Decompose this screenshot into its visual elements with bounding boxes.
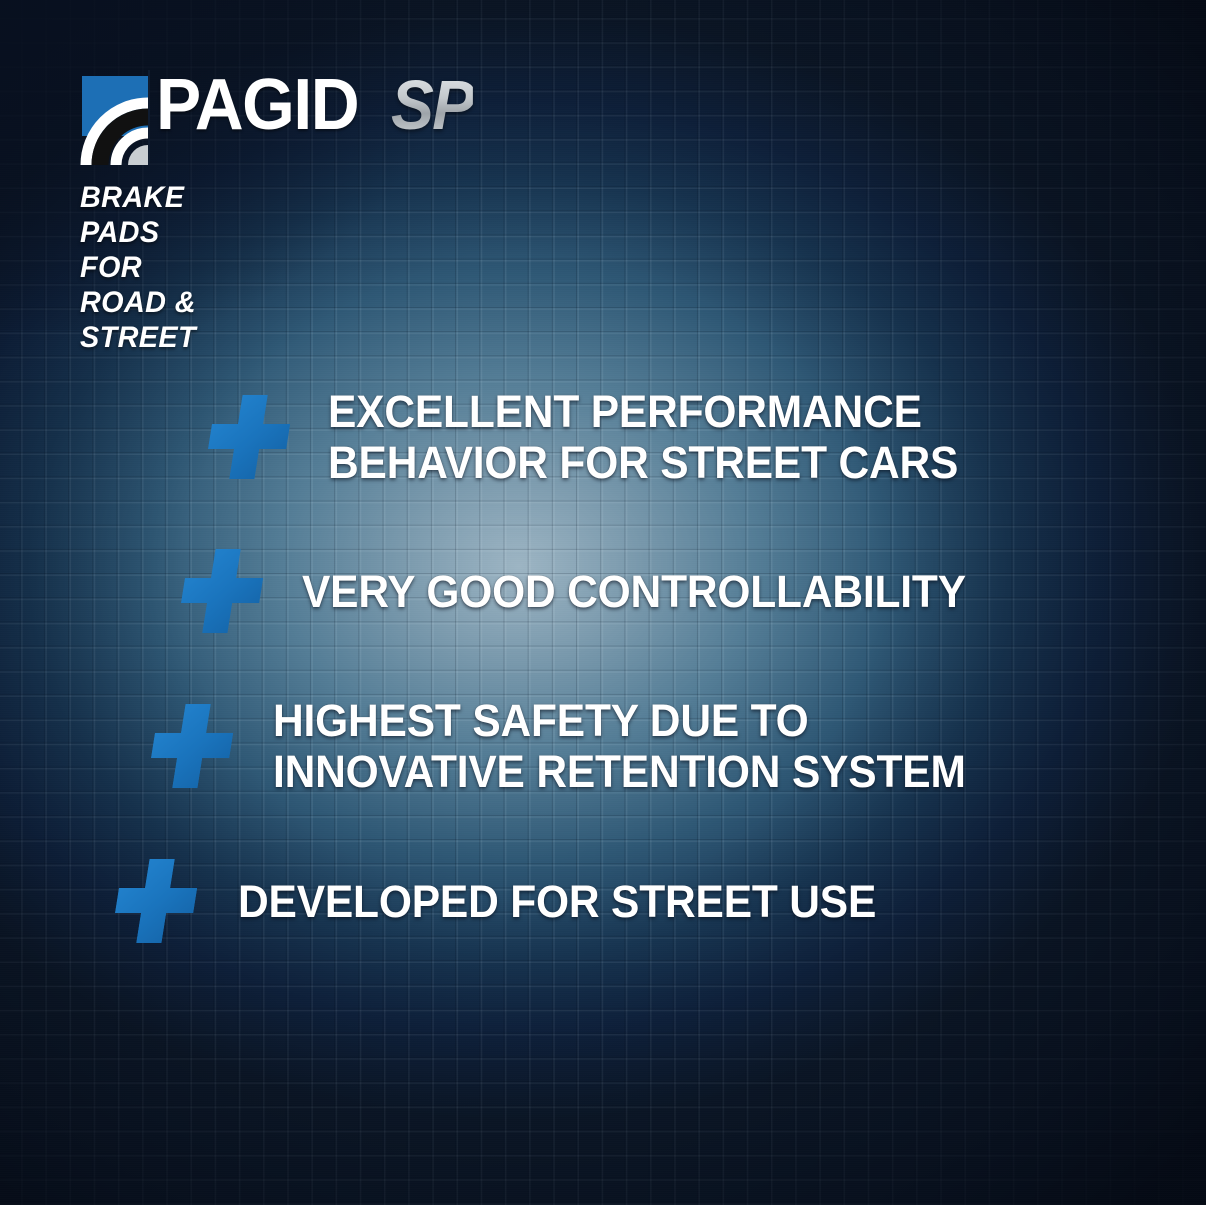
product-feature-banner: PAGID SP BRAKE PADS FOR ROAD & STREET EX… — [0, 0, 1206, 1205]
feature-bullet-label: DEVELOPED FOR STREET USE — [238, 876, 876, 927]
plus-icon — [105, 857, 207, 945]
brand-tagline: BRAKE PADS FOR ROAD & STREET — [80, 180, 196, 355]
brand-product-line-sp: SP — [391, 70, 473, 140]
pagid-arc-logo-mark — [78, 70, 150, 165]
feature-bullet-item: VERY GOOD CONTROLLABILITY — [178, 547, 1005, 635]
feature-bullet-label: VERY GOOD CONTROLLABILITY — [302, 566, 966, 617]
feature-bullet-item: EXCELLENT PERFORMANCE BEHAVIOR FOR STREE… — [205, 386, 995, 488]
plus-icon — [171, 547, 273, 635]
feature-bullet-label: HIGHEST SAFETY DUE TO INNOVATIVE RETENTI… — [273, 695, 966, 797]
plus-icon — [198, 393, 300, 481]
background-corner-shade — [0, 0, 420, 330]
feature-bullet-item: HIGHEST SAFETY DUE TO INNOVATIVE RETENTI… — [148, 695, 1006, 797]
feature-bullet-item: DEVELOPED FOR STREET USE — [112, 857, 913, 945]
brand-wordmark: PAGID SP — [156, 69, 481, 141]
feature-bullet-label: EXCELLENT PERFORMANCE BEHAVIOR FOR STREE… — [328, 386, 958, 488]
plus-icon — [141, 702, 243, 790]
brand-name-pagid: PAGID — [156, 69, 358, 141]
